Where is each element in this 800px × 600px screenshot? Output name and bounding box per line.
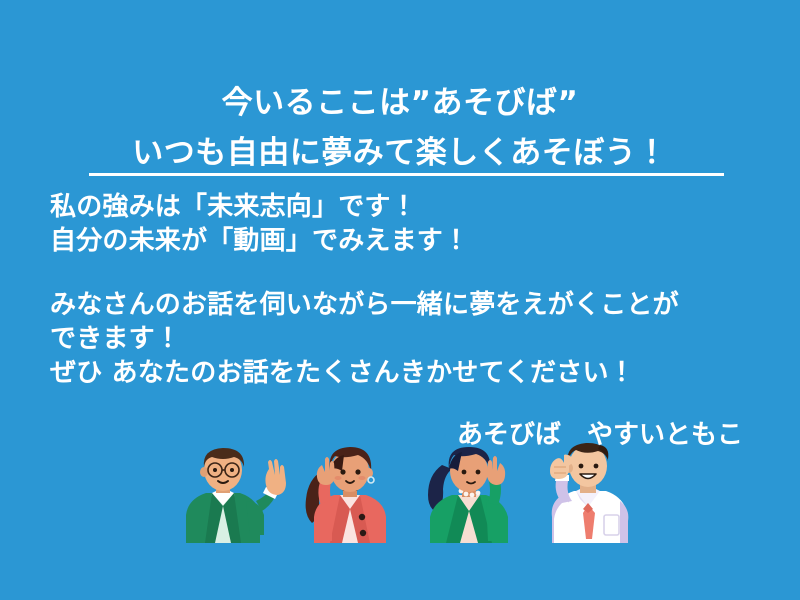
- body-line-3: みなさんのお話を伺いながら一緒に夢をえがくことが: [50, 288, 770, 322]
- title-block: 今いるここは”あそびば” いつも自由に夢みて楽しくあそぼう！: [0, 78, 800, 178]
- divider-rule: [89, 173, 724, 176]
- body-line-5: ぜひ あなたのお話をたくさんきかせてください！: [50, 356, 770, 390]
- illustration-row: [0, 452, 800, 600]
- person-woman-green: [414, 443, 524, 543]
- man-waving-illustration: [168, 443, 286, 543]
- man-thumb-illustration: [528, 439, 646, 543]
- person-woman-coral: [292, 443, 402, 543]
- woman-listening-coral-illustration: [292, 443, 402, 543]
- person-man-thumb: [528, 439, 646, 543]
- body-line-2: 自分の未来が「動画」でみえます！: [50, 224, 770, 258]
- body-line-4: できます！: [50, 322, 770, 356]
- body-text-block: 私の強みは「未来志向」です！ 自分の未来が「動画」でみえます！ みなさんのお話を…: [50, 190, 770, 390]
- woman-listening-green-illustration: [414, 443, 524, 543]
- person-man-waving: [168, 443, 286, 543]
- slide-canvas: 今いるここは”あそびば” いつも自由に夢みて楽しくあそぼう！ 私の強みは「未来志…: [0, 0, 800, 600]
- body-line-1: 私の強みは「未来志向」です！: [50, 190, 770, 224]
- title-line-1: 今いるここは”あそびば”: [0, 78, 800, 128]
- title-line-2: いつも自由に夢みて楽しくあそぼう！: [0, 128, 800, 178]
- body-spacer: [50, 258, 770, 288]
